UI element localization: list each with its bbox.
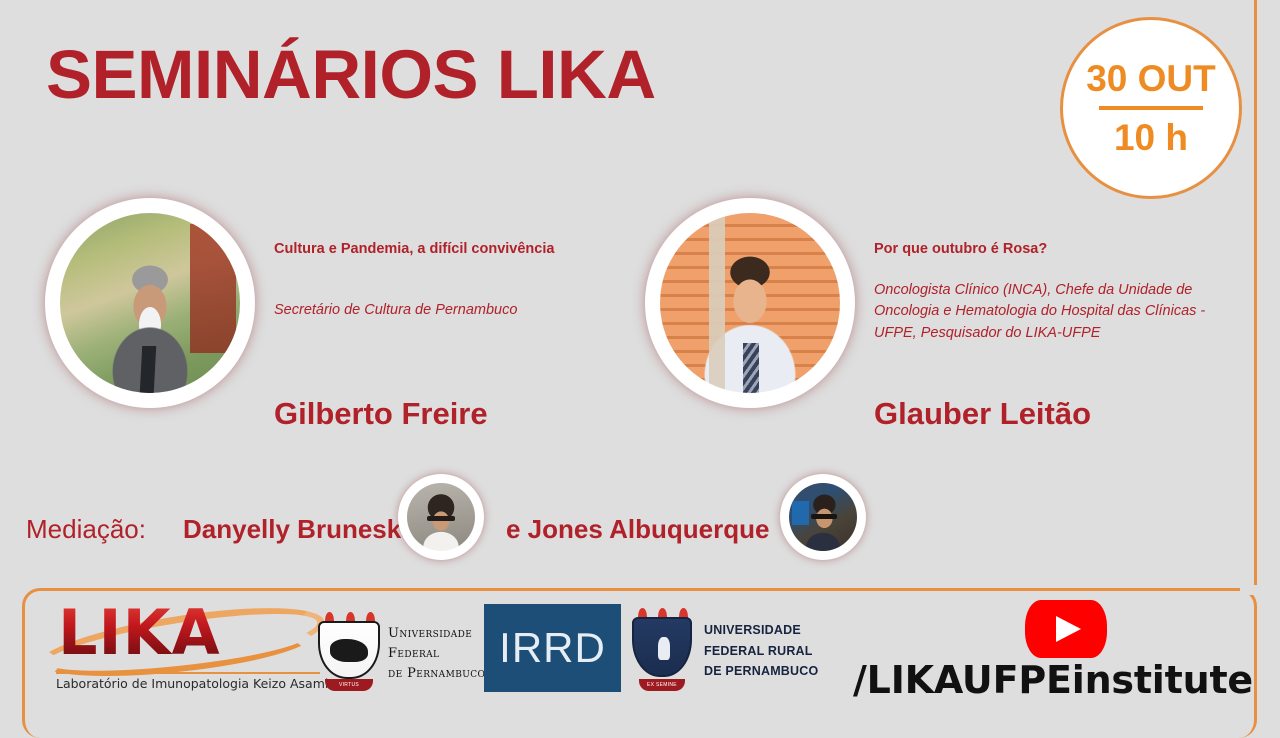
youtube-block[interactable]: /LIKAUFPEinstitute [843,600,1263,712]
date-badge-day: 30 OUT [1086,60,1216,97]
ufrpe-crest-icon: EX SEMINE SEGES [632,608,692,692]
speaker-role: Oncologista Clínico (INCA), Chefe da Uni… [874,280,1234,345]
page-title: SEMINÁRIOS LIKA [46,40,656,109]
speaker-info-glauber: Por que outubro é Rosa? Oncologista Clín… [874,240,1234,345]
date-badge-time: 10 h [1114,119,1188,156]
shield-shape [318,621,380,679]
ufrpe-name-line3: DE PERNAMBUCO [704,661,818,682]
ufpe-name-line1: Universidade [388,624,485,644]
speaker-info-gilberto: Cultura e Pandemia, a difícil convivênci… [274,240,624,321]
avatar-glauber-leitao [652,205,848,401]
ufpe-crest-icon: VIRTUS IMPAVIDA [318,612,380,692]
irrd-logo: IRRD [484,604,621,692]
avatar-photo [60,213,240,393]
ufpe-name-line3: de Pernambuco [388,664,485,684]
ufpe-logo: VIRTUS IMPAVIDA Universidade Federal de … [318,610,490,698]
seminar-poster: SEMINÁRIOS LIKA 30 OUT 10 h Cultura e Pa… [0,0,1280,720]
frame-vertical-line [1254,0,1257,590]
ufpe-name-line2: Federal [388,644,485,664]
speaker-topic: Por que outubro é Rosa? [874,240,1234,260]
speaker-topic: Cultura e Pandemia, a difícil convivênci… [274,240,624,260]
lion-icon [330,639,367,662]
avatar-photo [660,213,840,393]
sower-icon [658,637,670,660]
lika-subtitle: Laboratório de Imunopatologia Keizo Asam… [56,676,326,691]
avatar-danyelly-bruneska [402,478,480,556]
irrd-wordmark: IRRD [499,624,606,672]
lika-wordmark: LIKA [58,602,221,664]
mediation-name-jones: e Jones Albuquerque [506,514,769,545]
avatar-photo [407,483,475,551]
footer-logo-strip: LIKA Laboratório de Imunopatologia Keizo… [0,592,1280,720]
ufpe-motto: VIRTUS IMPAVIDA [325,679,372,691]
lika-divider [56,672,320,674]
ufrpe-name-line1: UNIVERSIDADE [704,620,818,641]
date-badge-divider [1099,106,1203,110]
avatar-jones-albuquerque [784,478,862,556]
speaker-name-glauber: Glauber Leitão [874,398,1091,429]
ufrpe-motto: EX SEMINE SEGES [639,679,685,691]
ufrpe-logo: EX SEMINE SEGES UNIVERSIDADE FEDERAL RUR… [632,606,832,698]
play-triangle-icon [1056,616,1081,642]
mediation-label: Mediação: [26,514,146,545]
lika-logo: LIKA Laboratório de Imunopatologia Keizo… [38,602,320,698]
ufpe-name: Universidade Federal de Pernambuco [388,624,485,684]
youtube-play-icon[interactable] [1025,600,1107,658]
date-badge: 30 OUT 10 h [1060,17,1242,199]
avatar-gilberto-freire [52,205,248,401]
mediation-name-danyelly: Danyelly Bruneska [183,514,416,545]
avatar-photo [789,483,857,551]
shield-shape [632,617,692,677]
youtube-handle[interactable]: /LIKAUFPEinstitute [843,658,1263,702]
ufrpe-name-line2: FEDERAL RURAL [704,641,818,662]
speaker-name-gilberto: Gilberto Freire [274,398,488,429]
speaker-role: Secretário de Cultura de Pernambuco [274,300,624,322]
ufrpe-name: UNIVERSIDADE FEDERAL RURAL DE PERNAMBUCO [704,620,818,682]
